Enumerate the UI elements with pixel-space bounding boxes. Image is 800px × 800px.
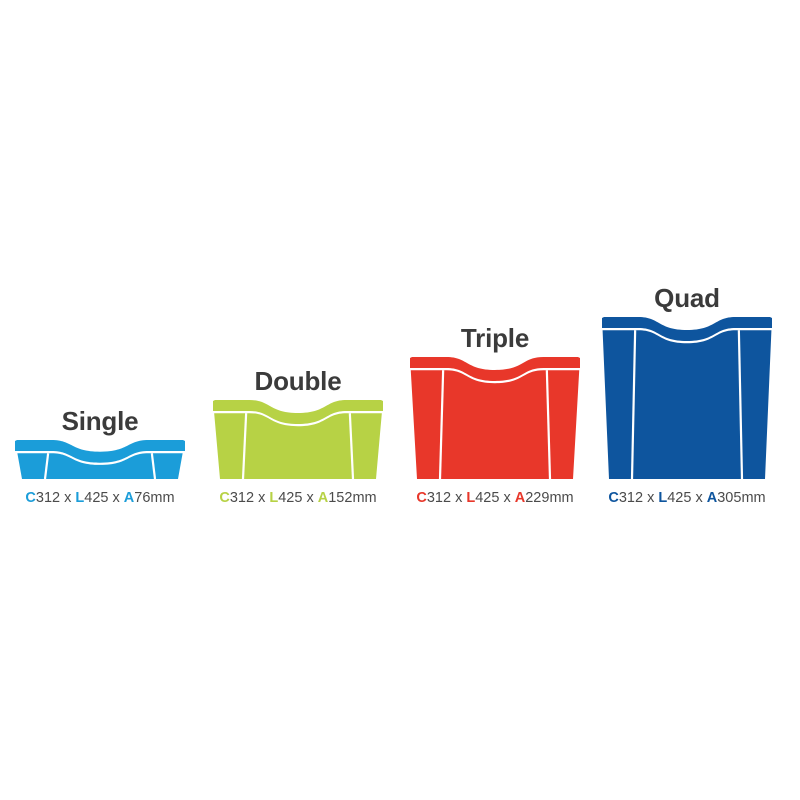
dim-unit: mm: [549, 490, 573, 506]
product-title-triple: Triple: [395, 323, 595, 353]
crate-illustration-quad: [602, 317, 772, 479]
dim-value-a: 305: [717, 490, 741, 506]
dim-value-c: 312: [619, 490, 643, 506]
crate-shape-quad: [602, 317, 772, 479]
dim-value-l: 425: [475, 490, 499, 506]
dim-sep-1: x: [254, 490, 269, 506]
crate-illustration-triple: [410, 357, 580, 479]
dim-value-a: 76: [134, 490, 150, 506]
dim-value-l: 425: [278, 490, 302, 506]
dim-key-a: A: [318, 490, 328, 506]
crate-shape-double: [213, 400, 383, 479]
dim-unit: mm: [352, 490, 376, 506]
product-title-quad: Quad: [587, 283, 787, 313]
dim-key-c: C: [416, 490, 426, 506]
dim-value-l: 425: [667, 490, 691, 506]
dim-value-c: 312: [427, 490, 451, 506]
dim-key-l: L: [75, 490, 84, 506]
dim-value-a: 229: [525, 490, 549, 506]
dim-value-c: 312: [230, 490, 254, 506]
crate-body-triple: [411, 370, 579, 479]
product-caption-quad: C312 x L425 x A305mm: [587, 489, 787, 507]
dim-sep-2: x: [108, 490, 123, 506]
dim-key-c: C: [25, 490, 35, 506]
dim-key-c: C: [219, 490, 229, 506]
dim-key-l: L: [466, 490, 475, 506]
dim-unit: mm: [150, 490, 174, 506]
crate-body-quad: [603, 330, 772, 479]
product-caption-double: C312 x L425 x A152mm: [198, 489, 398, 507]
dim-key-a: A: [515, 490, 525, 506]
dim-sep-2: x: [302, 490, 317, 506]
dim-value-a: 152: [328, 490, 352, 506]
dim-key-a: A: [124, 490, 134, 506]
dim-key-l: L: [269, 490, 278, 506]
dim-key-c: C: [608, 490, 618, 506]
size-comparison-diagram: Single C312 x L425 x A76mm Double C312 x…: [0, 0, 800, 800]
dim-value-c: 312: [36, 490, 60, 506]
crate-shape-triple: [410, 357, 580, 479]
crate-illustration-single: [15, 440, 185, 479]
dim-unit: mm: [741, 490, 765, 506]
dim-sep-2: x: [691, 490, 706, 506]
dim-key-a: A: [707, 490, 717, 506]
product-caption-single: C312 x L425 x A76mm: [0, 489, 200, 507]
dim-sep-1: x: [60, 490, 75, 506]
dim-value-l: 425: [84, 490, 108, 506]
product-caption-triple: C312 x L425 x A229mm: [395, 489, 595, 507]
product-title-double: Double: [198, 366, 398, 396]
dim-sep-1: x: [451, 490, 466, 506]
dim-key-l: L: [658, 490, 667, 506]
crate-illustration-double: [213, 400, 383, 479]
product-title-single: Single: [0, 406, 200, 436]
dim-sep-1: x: [643, 490, 658, 506]
crate-shape-single: [15, 440, 185, 479]
dim-sep-2: x: [499, 490, 514, 506]
